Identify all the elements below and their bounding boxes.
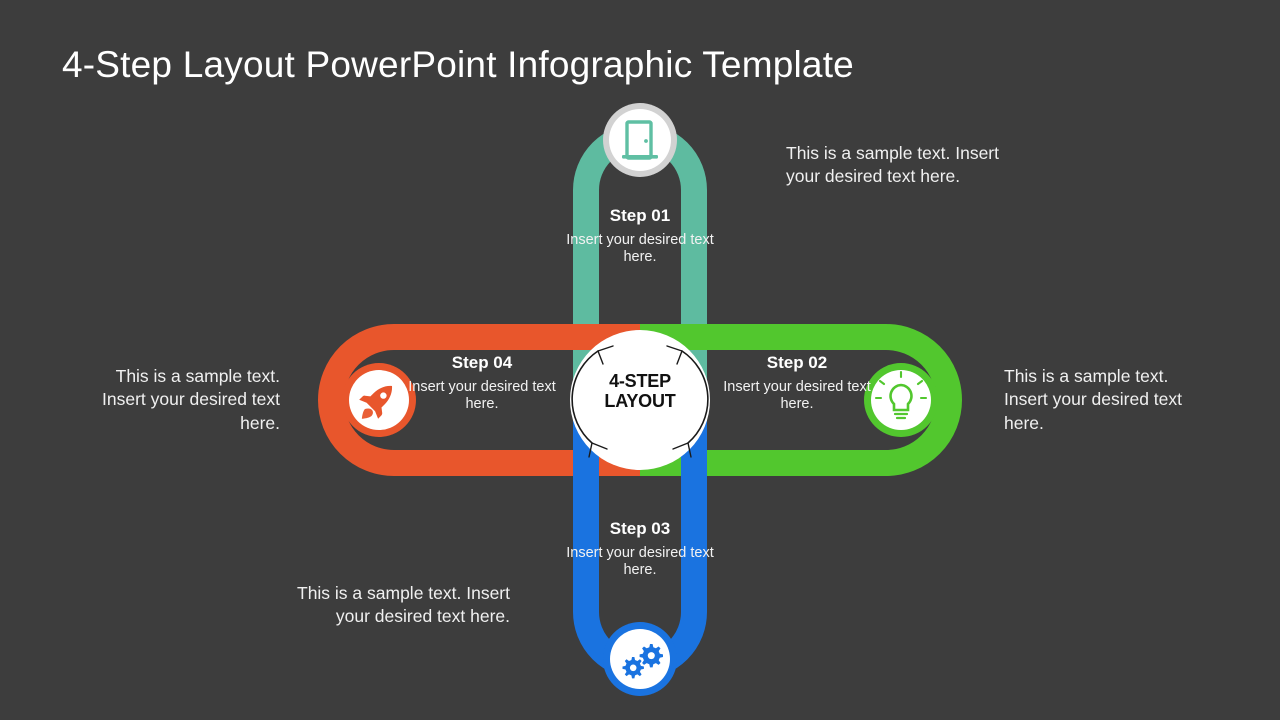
callout-right: This is a sample text. Insert your desir… (1004, 365, 1184, 435)
step-03-description: Insert your desired text here. (560, 545, 720, 579)
center-label-line2: LAYOUT (575, 391, 705, 411)
step-02-text-block: Step 02 Insert your desired text here. (717, 353, 877, 413)
step-01-icon-badge[interactable] (603, 103, 677, 177)
center-label-line1: 4-STEP (575, 371, 705, 391)
step-02-title: Step 02 (717, 353, 877, 373)
callout-left: This is a sample text. Insert your desir… (100, 365, 280, 435)
step-04-title: Step 04 (402, 353, 562, 373)
step-03-text-block: Step 03 Insert your desired text here. (560, 519, 720, 579)
center-hub-label: 4-STEP LAYOUT (575, 371, 705, 411)
callout-bottom: This is a sample text. Insert your desir… (270, 582, 510, 629)
callout-top-right: This is a sample text. Insert your desir… (786, 142, 1026, 189)
step-01-description: Insert your desired text here. (560, 232, 720, 266)
step-04-description: Insert your desired text here. (402, 379, 562, 413)
step-01-text-block: Step 01 Insert your desired text here. (560, 206, 720, 266)
step-03-icon-badge[interactable] (603, 622, 677, 696)
step-02-description: Insert your desired text here. (717, 379, 877, 413)
step-04-text-block: Step 04 Insert your desired text here. (402, 353, 562, 413)
four-step-infographic-diagram (0, 0, 1280, 720)
step-03-title: Step 03 (560, 519, 720, 539)
step-01-title: Step 01 (560, 206, 720, 226)
